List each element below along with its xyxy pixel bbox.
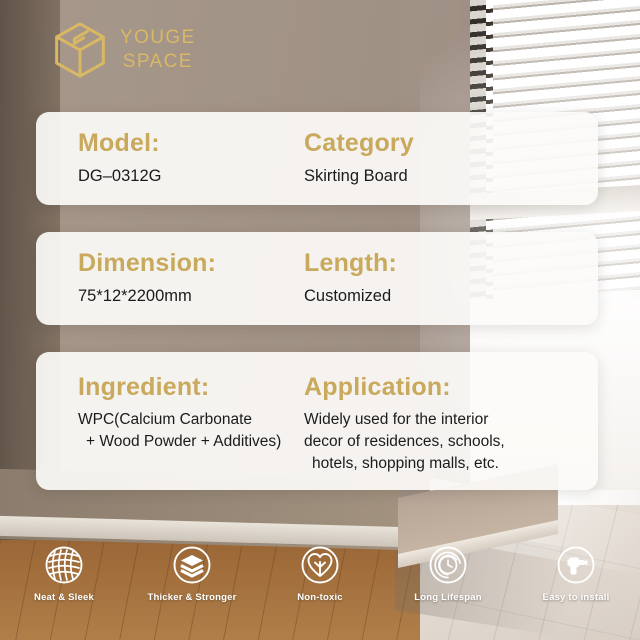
feature-item-thicker-stronger: Thicker & Stronger — [128, 543, 256, 603]
spec-label-ingredient: Ingredient: — [78, 374, 298, 402]
spec-field-model: Model: DG–0312G — [36, 112, 298, 205]
spec-value-model: DG–0312G — [78, 165, 298, 187]
heart-leaf-icon — [298, 543, 342, 587]
spec-label-dimension: Dimension: — [78, 250, 298, 278]
spec-label-application: Application: — [304, 374, 598, 402]
stacked-layers-icon — [170, 543, 214, 587]
spec-label-length: Length: — [304, 250, 598, 278]
brand-name-line2: SPACE — [123, 51, 193, 72]
brand-logo: YOUGE SPACE — [52, 20, 196, 80]
cube-spiral-logo-icon — [52, 20, 108, 80]
feature-label-thicker-stronger: Thicker & Stronger — [147, 592, 236, 603]
power-drill-icon — [554, 543, 598, 587]
feature-label-easy-install: Easy to install — [543, 592, 610, 603]
spec-field-length: Length: Customized — [298, 232, 598, 325]
spec-field-ingredient: Ingredient: WPC(Calcium Carbonate + Wood… — [36, 352, 298, 490]
feature-item-long-lifespan: Long Lifespan — [384, 543, 512, 603]
spec-value-application-line1: Widely used for the interior — [304, 409, 598, 431]
feature-label-neat-sleek: Neat & Sleek — [34, 592, 94, 603]
spec-value-application-line2: decor of residences, schools, — [304, 431, 598, 453]
spec-value-category: Skirting Board — [304, 165, 598, 187]
spec-card-dimension: Dimension: 75*12*2200mm Length: Customiz… — [36, 232, 598, 325]
spec-value-ingredient: WPC(Calcium Carbonate + Wood Powder + Ad… — [78, 409, 298, 454]
feature-label-non-toxic: Non-toxic — [297, 592, 343, 603]
spec-label-category: Category — [304, 130, 598, 158]
spec-field-category: Category Skirting Board — [298, 112, 598, 205]
spec-card-ingredient: Ingredient: WPC(Calcium Carbonate + Wood… — [36, 352, 598, 490]
feature-strip: Neat & Sleek Thicker & Stronger — [0, 543, 640, 615]
spec-value-ingredient-line2: + Wood Powder + Additives) — [78, 431, 298, 453]
spec-field-application: Application: Widely used for the interio… — [298, 352, 598, 490]
woven-mesh-icon — [42, 543, 86, 587]
spec-value-length: Customized — [304, 285, 598, 307]
product-spec-banner: YOUGE SPACE Model: DG–0312G Category Ski… — [0, 0, 640, 640]
spec-value-application-line3: hotels, shopping malls, etc. — [304, 453, 598, 475]
spec-value-ingredient-line1: WPC(Calcium Carbonate — [78, 409, 298, 431]
feature-item-neat-sleek: Neat & Sleek — [0, 543, 128, 603]
feature-label-long-lifespan: Long Lifespan — [414, 592, 482, 603]
spec-card-model: Model: DG–0312G Category Skirting Board — [36, 112, 598, 205]
brand-name-line1: YOUGE — [120, 27, 196, 48]
brand-name: YOUGE SPACE — [120, 26, 196, 75]
spec-value-dimension: 75*12*2200mm — [78, 285, 298, 307]
feature-item-easy-install: Easy to install — [512, 543, 640, 603]
feature-item-non-toxic: Non-toxic — [256, 543, 384, 603]
spec-field-dimension: Dimension: 75*12*2200mm — [36, 232, 298, 325]
spec-value-application: Widely used for the interior decor of re… — [304, 409, 598, 476]
spec-label-model: Model: — [78, 130, 298, 158]
clock-icon — [426, 543, 470, 587]
